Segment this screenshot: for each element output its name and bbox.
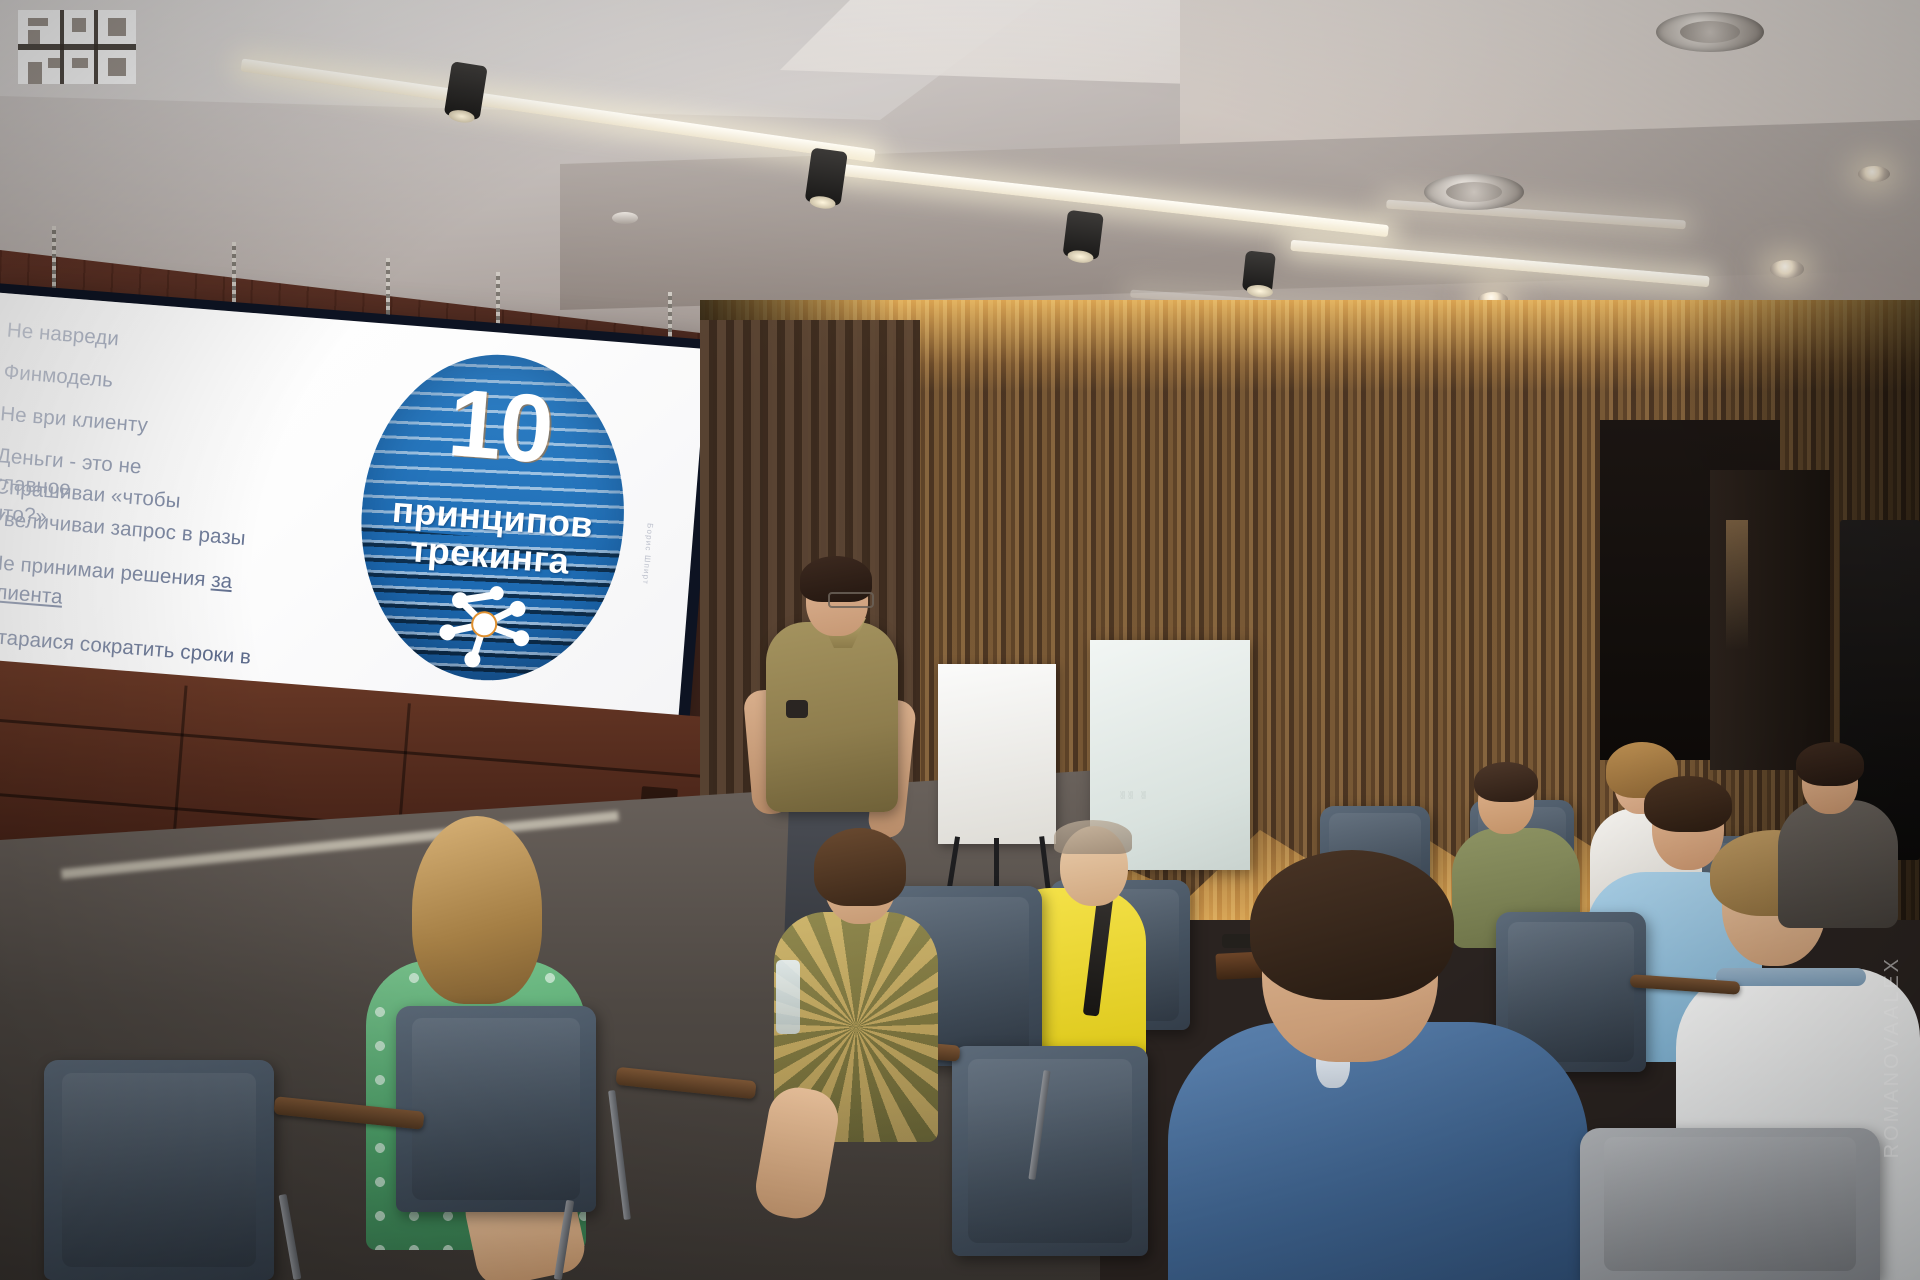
door-light-gap bbox=[1726, 520, 1748, 650]
water-bottle bbox=[776, 960, 800, 1034]
logo-notch bbox=[72, 58, 88, 68]
wall-seam bbox=[0, 718, 743, 781]
attendee-torso bbox=[1168, 1022, 1588, 1280]
slide-bullet-underline: за bbox=[210, 568, 233, 593]
attendee-hair bbox=[1250, 850, 1454, 1000]
attendee-torso bbox=[1778, 800, 1898, 928]
watermark: ROMANOVAALEX bbox=[1881, 956, 1904, 1158]
photo-canvas: Не навреди Финмодель Не ври клиенту День… bbox=[0, 0, 1920, 1280]
logo-notch bbox=[28, 62, 42, 84]
ceiling-downlight bbox=[1858, 166, 1890, 182]
badge-number: 10 bbox=[366, 369, 635, 485]
track-spotlight bbox=[1242, 250, 1276, 293]
track-spotlight bbox=[1063, 210, 1104, 260]
logo-notch bbox=[28, 30, 40, 44]
presenter-polo-shirt bbox=[766, 622, 898, 812]
logo-notch bbox=[72, 18, 86, 32]
geo-pro-logo bbox=[18, 10, 136, 88]
chair[interactable] bbox=[396, 1006, 596, 1212]
slide-bullet-underline: клиента bbox=[0, 580, 64, 609]
molecule-icon bbox=[425, 572, 544, 673]
slide-side-credit: Борис Шпирт bbox=[641, 523, 655, 586]
logo-gap bbox=[18, 44, 136, 50]
whiteboard-label: ░░ ░ bbox=[1120, 792, 1149, 799]
chair[interactable] bbox=[44, 1060, 274, 1280]
logo-notch bbox=[48, 58, 60, 68]
attendee-hair bbox=[1796, 742, 1864, 786]
chair[interactable] bbox=[1580, 1128, 1880, 1280]
attendee-hair bbox=[1644, 776, 1732, 832]
chair[interactable] bbox=[952, 1046, 1148, 1256]
attendee-hair bbox=[814, 828, 906, 906]
slide-badge-oval: 10 принципов трекинга bbox=[349, 345, 636, 691]
logo-notch bbox=[108, 18, 126, 36]
screen-chain bbox=[52, 226, 56, 290]
attendee-hair bbox=[412, 816, 542, 1004]
logo-notch bbox=[108, 58, 126, 76]
logo-notch bbox=[28, 18, 48, 26]
track-spotlight bbox=[805, 147, 848, 205]
attendee-hair bbox=[1474, 762, 1538, 802]
flipchart-board bbox=[938, 664, 1056, 844]
ceiling-downlight bbox=[1770, 260, 1804, 278]
ceiling-vent bbox=[1424, 174, 1524, 210]
presenter-clicker bbox=[786, 700, 808, 718]
glasses-icon bbox=[828, 592, 874, 608]
smoke-detector-icon bbox=[612, 212, 638, 224]
ceiling-vent bbox=[1656, 12, 1764, 52]
attendee-hair bbox=[1054, 820, 1132, 854]
